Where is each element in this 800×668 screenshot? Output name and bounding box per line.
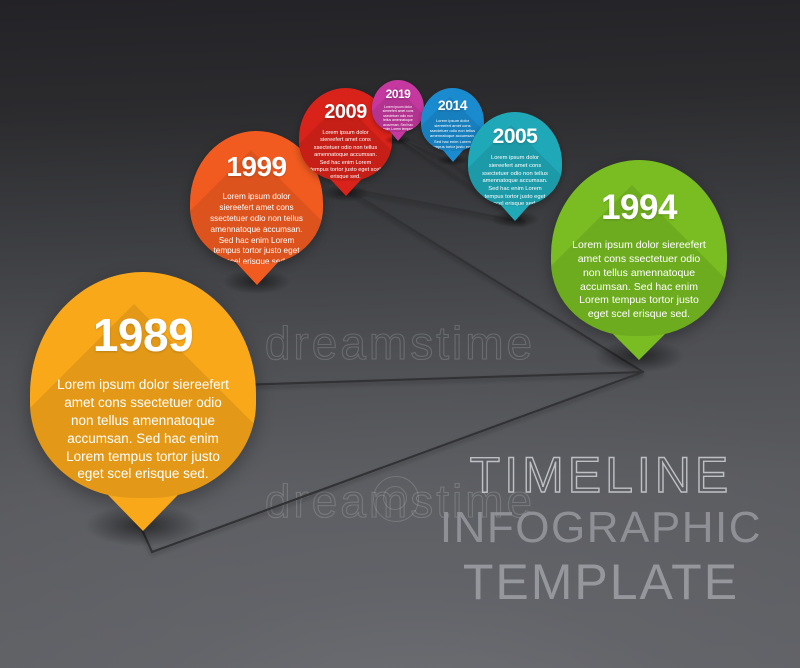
pin-year-label: 1999 [226,153,286,181]
timeline-pin-1989[interactable]: 1989Lorem ipsum dolor siereefert amet co… [30,272,256,498]
page-title-line-3: TEMPLATE [440,553,762,611]
infographic-canvas: dreamstime dreamstime 1989Lorem ipsum do… [0,0,800,668]
timeline-pin-2005[interactable]: 2005Lorem ipsum dolor siereefert amet co… [468,112,562,206]
pin-year-label: 1989 [93,312,193,358]
title-block: TIMELINE INFOGRAPHIC TEMPLATE [440,448,762,611]
pin-content: 2005Lorem ipsum dolor siereefert amet co… [468,112,562,206]
pin-bulb: 2005Lorem ipsum dolor siereefert amet co… [468,112,562,206]
pin-description: Lorem ipsum dolor siereefert amet cons s… [54,376,232,483]
pin-year-label: 2019 [386,88,411,100]
pin-description: Lorem ipsum dolor siereefert amet cons s… [571,239,707,322]
page-title-line-2: INFOGRAPHIC [440,502,762,553]
pin-year-label: 2009 [324,102,367,122]
pin-bulb: 1994Lorem ipsum dolor siereefert amet co… [551,160,727,336]
pin-year-label: 2005 [493,126,538,147]
pin-bulb: 2019Lorem ipsum dolor siereefert amet co… [372,80,424,132]
pin-description: Lorem ipsum dolor siereefert amet cons s… [379,105,417,132]
pin-description: Lorem ipsum dolor siereefert amet cons s… [479,155,551,206]
pin-year-label: 2014 [438,98,467,112]
pin-year-label: 1994 [601,190,677,225]
timeline-pin-2019[interactable]: 2019Lorem ipsum dolor siereefert amet co… [372,80,424,132]
watermark-spiral-icon [373,476,419,522]
pin-content: 1989Lorem ipsum dolor siereefert amet co… [30,272,256,498]
pin-content: 2019Lorem ipsum dolor siereefert amet co… [372,80,424,132]
pin-bulb: 1989Lorem ipsum dolor siereefert amet co… [30,272,256,498]
timeline-pin-1994[interactable]: 1994Lorem ipsum dolor siereefert amet co… [551,160,727,336]
pin-description: Lorem ipsum dolor siereefert amet cons s… [206,192,307,264]
pin-description: Lorem ipsum dolor siereefert amet cons s… [310,130,381,181]
pin-content: 1994Lorem ipsum dolor siereefert amet co… [551,160,727,336]
page-title-line-1: TIMELINE [440,448,762,502]
